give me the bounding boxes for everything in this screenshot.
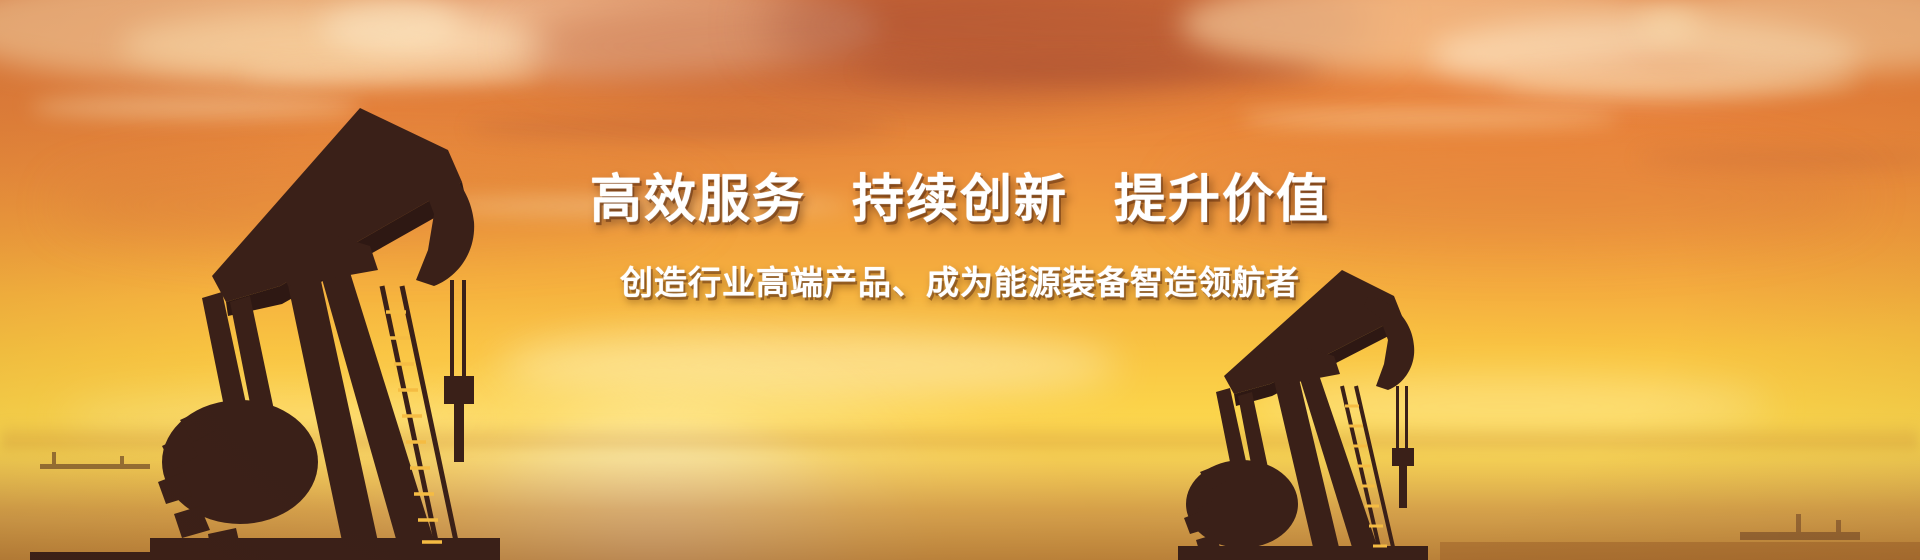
pumpjack-right [1110, 260, 1430, 560]
pumpjack-left [30, 90, 500, 560]
distant-structures [1440, 440, 1920, 560]
hero-banner: 高效服务持续创新提升价值 创造行业高端产品、成为能源装备智造领航者 [0, 0, 1920, 560]
left-distant-structure [0, 442, 200, 482]
